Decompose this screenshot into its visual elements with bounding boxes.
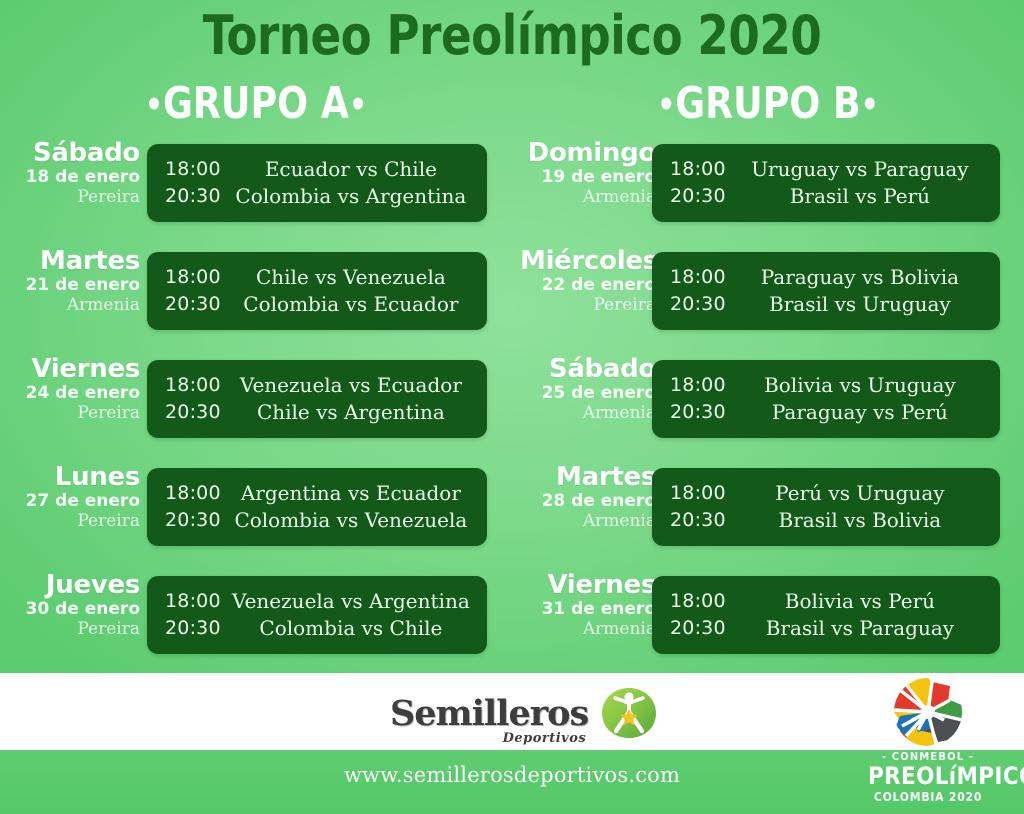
venue-city: Armenia — [520, 513, 656, 530]
day-name: Lunes — [0, 464, 140, 490]
semilleros-tagline: Deportivos — [503, 731, 587, 746]
match-time-2: 20:30 — [670, 507, 726, 534]
match-card: 18:00 20:30 Venezuela vs Ecuador Chile v… — [147, 360, 487, 438]
schedule-row: Sábado 25 de enero Armenia 18:00 20:30 B… — [512, 352, 1024, 460]
match-fixture-2: Brasil vs Bolivia — [730, 507, 990, 534]
day-date: 22 de enero — [520, 277, 656, 294]
semilleros-athlete-icon — [600, 686, 658, 740]
match-day-info: Viernes 31 de enero Armenia — [520, 572, 656, 638]
schedule-row: Martes 28 de enero Armenia 18:00 20:30 P… — [512, 460, 1024, 568]
venue-city: Armenia — [520, 405, 656, 422]
match-fixtures: Bolivia vs Perú Brasil vs Paraguay — [726, 588, 1000, 642]
match-fixtures: Argentina vs Ecuador Colombia vs Venezue… — [221, 480, 487, 534]
match-day-info: Sábado 25 de enero Armenia — [520, 356, 656, 422]
match-time-1: 18:00 — [670, 588, 726, 615]
semilleros-wordmark: Semilleros Deportivos — [390, 696, 588, 731]
group-headers: •GRUPO A• •GRUPO B• — [0, 78, 1024, 134]
venue-city: Armenia — [0, 297, 140, 314]
match-fixture-1: Bolivia vs Uruguay — [730, 372, 990, 399]
match-time-1: 18:00 — [165, 156, 221, 183]
schedule-row: Lunes 27 de enero Pereira 18:00 20:30 Ar… — [0, 460, 512, 568]
match-fixtures: Uruguay vs Paraguay Brasil vs Perú — [726, 156, 1000, 210]
match-fixture-2: Chile vs Argentina — [225, 399, 477, 426]
match-times: 18:00 20:30 — [147, 264, 221, 318]
match-fixture-1: Argentina vs Ecuador — [225, 480, 477, 507]
match-time-1: 18:00 — [165, 588, 221, 615]
match-card: 18:00 20:30 Chile vs Venezuela Colombia … — [147, 252, 487, 330]
match-fixtures: Venezuela vs Ecuador Chile vs Argentina — [221, 372, 487, 426]
day-name: Martes — [0, 248, 140, 274]
match-day-info: Domingo 19 de enero Armenia — [520, 140, 656, 206]
group-a-heading: •GRUPO A• — [20, 78, 491, 129]
match-times: 18:00 20:30 — [652, 264, 726, 318]
semilleros-name: Semilleros — [390, 696, 588, 731]
match-time-1: 18:00 — [670, 372, 726, 399]
venue-city: Armenia — [520, 621, 656, 638]
match-time-2: 20:30 — [165, 615, 221, 642]
match-times: 18:00 20:30 — [147, 588, 221, 642]
venue-city: Pereira — [0, 513, 140, 530]
match-fixture-2: Colombia vs Chile — [225, 615, 477, 642]
match-fixture-2: Paraguay vs Perú — [730, 399, 990, 426]
day-date: 18 de enero — [0, 169, 140, 186]
match-fixtures: Paraguay vs Bolivia Brasil vs Uruguay — [726, 264, 1000, 318]
match-day-info: Lunes 27 de enero Pereira — [0, 464, 140, 530]
day-name: Sábado — [0, 140, 140, 166]
bullet-left-icon: • — [145, 85, 163, 125]
match-time-2: 20:30 — [165, 291, 221, 318]
group-a-label: GRUPO A — [163, 78, 349, 129]
match-card: 18:00 20:30 Paraguay vs Bolivia Brasil v… — [652, 252, 1000, 330]
day-name: Martes — [520, 464, 656, 490]
match-time-2: 20:30 — [165, 183, 221, 210]
schedule-row: Sábado 18 de enero Pereira 18:00 20:30 E… — [0, 136, 512, 244]
schedule-row: Viernes 24 de enero Pereira 18:00 20:30 … — [0, 352, 512, 460]
day-date: 27 de enero — [0, 493, 140, 510]
day-name: Viernes — [520, 572, 656, 598]
match-time-2: 20:30 — [670, 291, 726, 318]
day-date: 25 de enero — [520, 385, 656, 402]
group-b-heading: •GRUPO B• — [532, 78, 1003, 129]
match-card: 18:00 20:30 Perú vs Uruguay Brasil vs Bo… — [652, 468, 1000, 546]
match-time-2: 20:30 — [670, 615, 726, 642]
venue-city: Armenia — [520, 189, 656, 206]
bullet-right-icon: • — [861, 85, 879, 125]
website-url[interactable]: www.semillerosdeportivos.com — [0, 763, 1024, 787]
preolimpico-ball-icon — [892, 676, 964, 748]
match-fixture-1: Paraguay vs Bolivia — [730, 264, 990, 291]
match-card: 18:00 20:30 Venezuela vs Argentina Colom… — [147, 576, 487, 654]
match-fixture-1: Bolivia vs Perú — [730, 588, 990, 615]
match-time-2: 20:30 — [165, 507, 221, 534]
day-date: 28 de enero — [520, 493, 656, 510]
schedule-row: Domingo 19 de enero Armenia 18:00 20:30 … — [512, 136, 1024, 244]
schedule-row: Miércoles 22 de enero Pereira 18:00 20:3… — [512, 244, 1024, 352]
match-fixtures: Ecuador vs Chile Colombia vs Argentina — [221, 156, 487, 210]
venue-city: Pereira — [520, 297, 656, 314]
day-name: Miércoles — [520, 248, 656, 274]
day-name: Domingo — [520, 140, 656, 166]
match-day-info: Miércoles 22 de enero Pereira — [520, 248, 656, 314]
bullet-right-icon: • — [349, 85, 367, 125]
match-time-2: 20:30 — [165, 399, 221, 426]
tournament-schedule-poster: Torneo Preolímpico 2020 •GRUPO A• •GRUPO… — [0, 0, 1024, 814]
match-fixture-2: Colombia vs Ecuador — [225, 291, 477, 318]
match-fixture-2: Colombia vs Argentina — [225, 183, 477, 210]
match-fixture-1: Perú vs Uruguay — [730, 480, 990, 507]
day-date: 19 de enero — [520, 169, 656, 186]
match-times: 18:00 20:30 — [652, 588, 726, 642]
venue-city: Pereira — [0, 189, 140, 206]
match-times: 18:00 20:30 — [147, 372, 221, 426]
match-fixtures: Bolivia vs Uruguay Paraguay vs Perú — [726, 372, 1000, 426]
match-card: 18:00 20:30 Ecuador vs Chile Colombia vs… — [147, 144, 487, 222]
day-name: Viernes — [0, 356, 140, 382]
match-times: 18:00 20:30 — [652, 480, 726, 534]
match-fixtures: Perú vs Uruguay Brasil vs Bolivia — [726, 480, 1000, 534]
match-time-1: 18:00 — [165, 264, 221, 291]
schedule-row: Viernes 31 de enero Armenia 18:00 20:30 … — [512, 568, 1024, 676]
group-b-label: GRUPO B — [675, 78, 861, 129]
match-fixture-2: Brasil vs Perú — [730, 183, 990, 210]
match-fixtures: Chile vs Venezuela Colombia vs Ecuador — [221, 264, 487, 318]
match-day-info: Sábado 18 de enero Pereira — [0, 140, 140, 206]
match-times: 18:00 20:30 — [147, 480, 221, 534]
day-name: Jueves — [0, 572, 140, 598]
venue-city: Pereira — [0, 405, 140, 422]
day-date: 24 de enero — [0, 385, 140, 402]
group-b-column: Domingo 19 de enero Armenia 18:00 20:30 … — [512, 136, 1024, 672]
day-date: 31 de enero — [520, 601, 656, 618]
match-times: 18:00 20:30 — [652, 372, 726, 426]
schedule-grid: Sábado 18 de enero Pereira 18:00 20:30 E… — [0, 136, 1024, 672]
match-fixture-1: Ecuador vs Chile — [225, 156, 477, 183]
venue-city: Pereira — [0, 621, 140, 638]
match-card: 18:00 20:30 Uruguay vs Paraguay Brasil v… — [652, 144, 1000, 222]
day-date: 21 de enero — [0, 277, 140, 294]
match-fixture-2: Colombia vs Venezuela — [225, 507, 477, 534]
match-fixture-2: Brasil vs Paraguay — [730, 615, 990, 642]
schedule-row: Jueves 30 de enero Pereira 18:00 20:30 V… — [0, 568, 512, 676]
match-time-2: 20:30 — [670, 183, 726, 210]
match-fixture-1: Uruguay vs Paraguay — [730, 156, 990, 183]
page-title: Torneo Preolímpico 2020 — [36, 8, 988, 65]
match-fixtures: Venezuela vs Argentina Colombia vs Chile — [221, 588, 487, 642]
match-time-1: 18:00 — [670, 156, 726, 183]
bullet-left-icon: • — [657, 85, 675, 125]
match-fixture-2: Brasil vs Uruguay — [730, 291, 990, 318]
match-card: 18:00 20:30 Bolivia vs Perú Brasil vs Pa… — [652, 576, 1000, 654]
match-day-info: Martes 28 de enero Armenia — [520, 464, 656, 530]
colombia-2020-label: COLOMBIA 2020 — [868, 790, 988, 804]
match-times: 18:00 20:30 — [147, 156, 221, 210]
match-time-1: 18:00 — [670, 480, 726, 507]
match-times: 18:00 20:30 — [652, 156, 726, 210]
match-time-1: 18:00 — [670, 264, 726, 291]
group-a-column: Sábado 18 de enero Pereira 18:00 20:30 E… — [0, 136, 512, 672]
match-time-2: 20:30 — [670, 399, 726, 426]
day-date: 30 de enero — [0, 601, 140, 618]
match-card: 18:00 20:30 Argentina vs Ecuador Colombi… — [147, 468, 487, 546]
match-day-info: Jueves 30 de enero Pereira — [0, 572, 140, 638]
match-fixture-1: Chile vs Venezuela — [225, 264, 477, 291]
match-day-info: Viernes 24 de enero Pereira — [0, 356, 140, 422]
day-name: Sábado — [520, 356, 656, 382]
match-fixture-1: Venezuela vs Argentina — [225, 588, 477, 615]
match-card: 18:00 20:30 Bolivia vs Uruguay Paraguay … — [652, 360, 1000, 438]
match-day-info: Martes 21 de enero Armenia — [0, 248, 140, 314]
schedule-row: Martes 21 de enero Armenia 18:00 20:30 C… — [0, 244, 512, 352]
semilleros-logo[interactable]: Semilleros Deportivos — [390, 686, 658, 740]
match-time-1: 18:00 — [165, 372, 221, 399]
match-fixture-1: Venezuela vs Ecuador — [225, 372, 477, 399]
match-time-1: 18:00 — [165, 480, 221, 507]
